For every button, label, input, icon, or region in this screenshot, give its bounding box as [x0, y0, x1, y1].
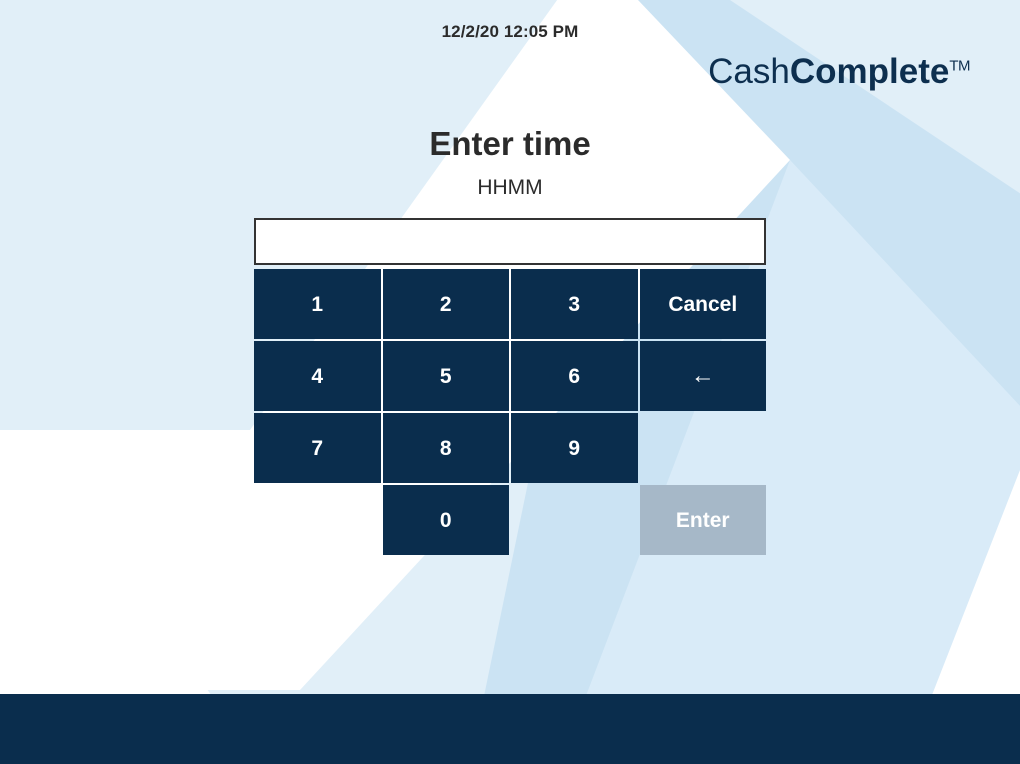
key-blank-3 [511, 485, 638, 555]
key-9[interactable]: 9 [511, 413, 638, 483]
brand-logo: CashCompleteTM [708, 54, 970, 89]
key-8[interactable]: 8 [383, 413, 510, 483]
footer-bar [0, 694, 1020, 764]
format-hint-label: HHMM [254, 176, 766, 200]
key-6[interactable]: 6 [511, 341, 638, 411]
enter-button[interactable]: Enter [640, 485, 767, 555]
key-0[interactable]: 0 [383, 485, 510, 555]
cancel-button[interactable]: Cancel [640, 269, 767, 339]
key-blank-2 [254, 485, 381, 555]
key-3[interactable]: 3 [511, 269, 638, 339]
backspace-button[interactable]: ← [640, 341, 767, 411]
time-input[interactable] [254, 218, 766, 265]
time-entry-panel: Enter time HHMM 123Cancel456←7890Enter [254, 126, 766, 555]
key-4[interactable]: 4 [254, 341, 381, 411]
key-7[interactable]: 7 [254, 413, 381, 483]
key-2[interactable]: 2 [383, 269, 510, 339]
key-5[interactable]: 5 [383, 341, 510, 411]
current-datetime: 12/2/20 12:05 PM [0, 22, 1020, 42]
key-1[interactable]: 1 [254, 269, 381, 339]
key-blank-1 [640, 413, 767, 483]
numeric-keypad: 123Cancel456←7890Enter [254, 269, 766, 555]
trademark-symbol: TM [949, 57, 970, 74]
page-title: Enter time [254, 126, 766, 162]
brand-logo-bold: Complete [790, 52, 949, 91]
brand-logo-light: Cash [708, 52, 790, 91]
app-root: 12/2/20 12:05 PM CashCompleteTM Enter ti… [0, 0, 1020, 764]
